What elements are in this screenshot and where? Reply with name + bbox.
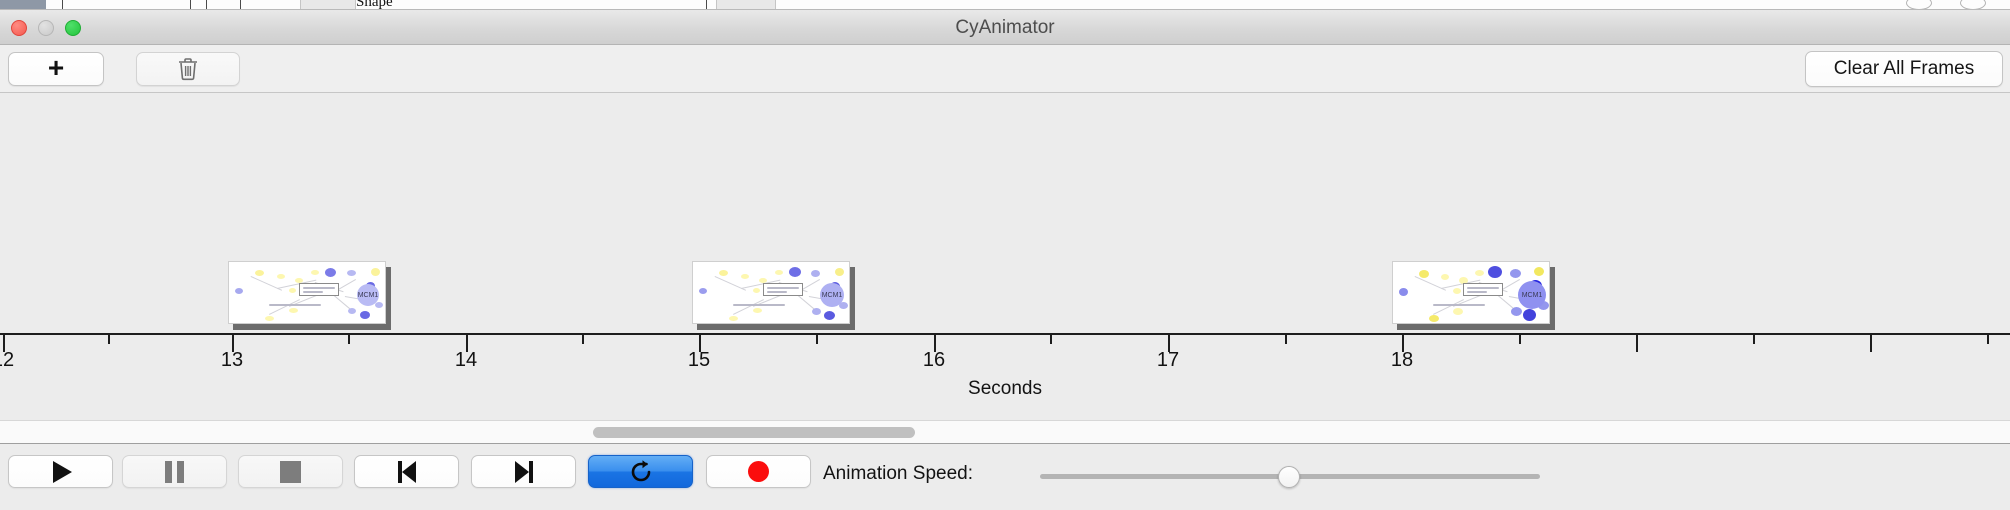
clear-all-frames-label: Clear All Frames xyxy=(1834,58,1974,80)
hub-node-label: MCM1 xyxy=(1518,281,1546,309)
stop-icon xyxy=(280,461,301,483)
background-graph-arc xyxy=(1960,0,1986,10)
background-panel xyxy=(716,0,776,10)
axis-label-12: 12 xyxy=(0,349,14,372)
axis-tick-minor xyxy=(1050,335,1052,344)
playback-toolbar: Animation Speed: xyxy=(0,444,2010,509)
record-button[interactable] xyxy=(706,455,811,488)
timeline-panel[interactable]: MCM1 xyxy=(0,93,2010,420)
hub-node-label: MCM1 xyxy=(820,283,844,307)
background-titlebar-chip xyxy=(0,0,46,10)
axis-tick-minor xyxy=(816,335,818,344)
background-divider xyxy=(190,0,191,10)
background-divider xyxy=(240,0,241,10)
axis-label-16: 16 xyxy=(923,349,945,372)
axis-tick-major xyxy=(1870,335,1872,352)
cyanimator-window: CyAnimator + Clear All Frames xyxy=(0,10,2010,510)
axis-tick-minor xyxy=(108,335,110,344)
axis-label-18: 18 xyxy=(1391,349,1413,372)
node-tooltip xyxy=(299,283,339,296)
next-button[interactable] xyxy=(471,455,576,488)
play-button[interactable] xyxy=(8,455,113,488)
hub-node-label: MCM1 xyxy=(357,284,379,306)
node-tooltip xyxy=(763,283,803,296)
frame-thumbnail-3[interactable]: MCM1 xyxy=(1392,261,1555,328)
previous-button[interactable] xyxy=(354,455,459,488)
axis-label-13: 13 xyxy=(221,349,243,372)
axis-title: Seconds xyxy=(0,378,2010,400)
record-icon xyxy=(748,461,769,482)
timeline-axis xyxy=(0,333,2010,335)
axis-tick-minor xyxy=(1987,335,1989,344)
timeline-scrollbar-thumb[interactable] xyxy=(593,427,915,438)
axis-tick-minor xyxy=(1519,335,1521,344)
frame-thumbnail-2[interactable]: MCM1 xyxy=(692,261,855,328)
skip-forward-icon xyxy=(515,461,533,483)
background-panel xyxy=(300,0,356,10)
background-divider xyxy=(206,0,207,10)
skip-back-icon xyxy=(398,461,416,483)
axis-tick-minor xyxy=(1753,335,1755,344)
node-tooltip xyxy=(1463,283,1503,296)
background-divider xyxy=(706,0,707,10)
loop-button[interactable] xyxy=(588,455,693,488)
frame-toolbar: + Clear All Frames xyxy=(0,45,2010,93)
background-graph-arc xyxy=(1906,0,1932,10)
play-icon xyxy=(53,461,72,483)
axis-tick-minor xyxy=(582,335,584,344)
network-mcm1-thumbnail: MCM1 xyxy=(228,261,386,324)
plus-icon: + xyxy=(48,54,64,82)
stop-button[interactable] xyxy=(238,455,343,488)
clear-all-frames-button[interactable]: Clear All Frames xyxy=(1805,51,2003,87)
axis-tick-minor xyxy=(1285,335,1287,344)
trash-icon xyxy=(177,57,199,81)
animation-speed-label: Animation Speed: xyxy=(823,463,973,485)
pause-button[interactable] xyxy=(122,455,227,488)
axis-label-15: 15 xyxy=(688,349,710,372)
animation-speed-slider[interactable] xyxy=(1040,466,1540,486)
axis-tick-minor xyxy=(348,335,350,344)
window-title: CyAnimator xyxy=(0,17,2010,39)
add-frame-button[interactable]: + xyxy=(8,52,104,86)
window-titlebar: CyAnimator xyxy=(0,10,2010,45)
network-mcm1-thumbnail: MCM1 xyxy=(1392,261,1550,324)
network-mcm1-thumbnail: MCM1 xyxy=(692,261,850,324)
background-divider xyxy=(62,0,63,10)
axis-tick-major xyxy=(1636,335,1638,352)
loop-icon xyxy=(628,459,654,485)
slider-thumb[interactable] xyxy=(1278,466,1300,488)
pause-icon xyxy=(165,461,184,483)
frame-thumbnail-1[interactable]: MCM1 xyxy=(228,261,391,328)
background-app-strip: Shape xyxy=(0,0,2010,10)
axis-label-17: 17 xyxy=(1157,349,1179,372)
axis-label-14: 14 xyxy=(455,349,477,372)
background-app-label: Shape xyxy=(356,0,393,10)
timeline-scrollbar-track[interactable] xyxy=(0,420,2010,444)
cyanimator-screen: Shape CyAnimator + xyxy=(0,0,2010,510)
delete-frame-button[interactable] xyxy=(136,52,240,86)
